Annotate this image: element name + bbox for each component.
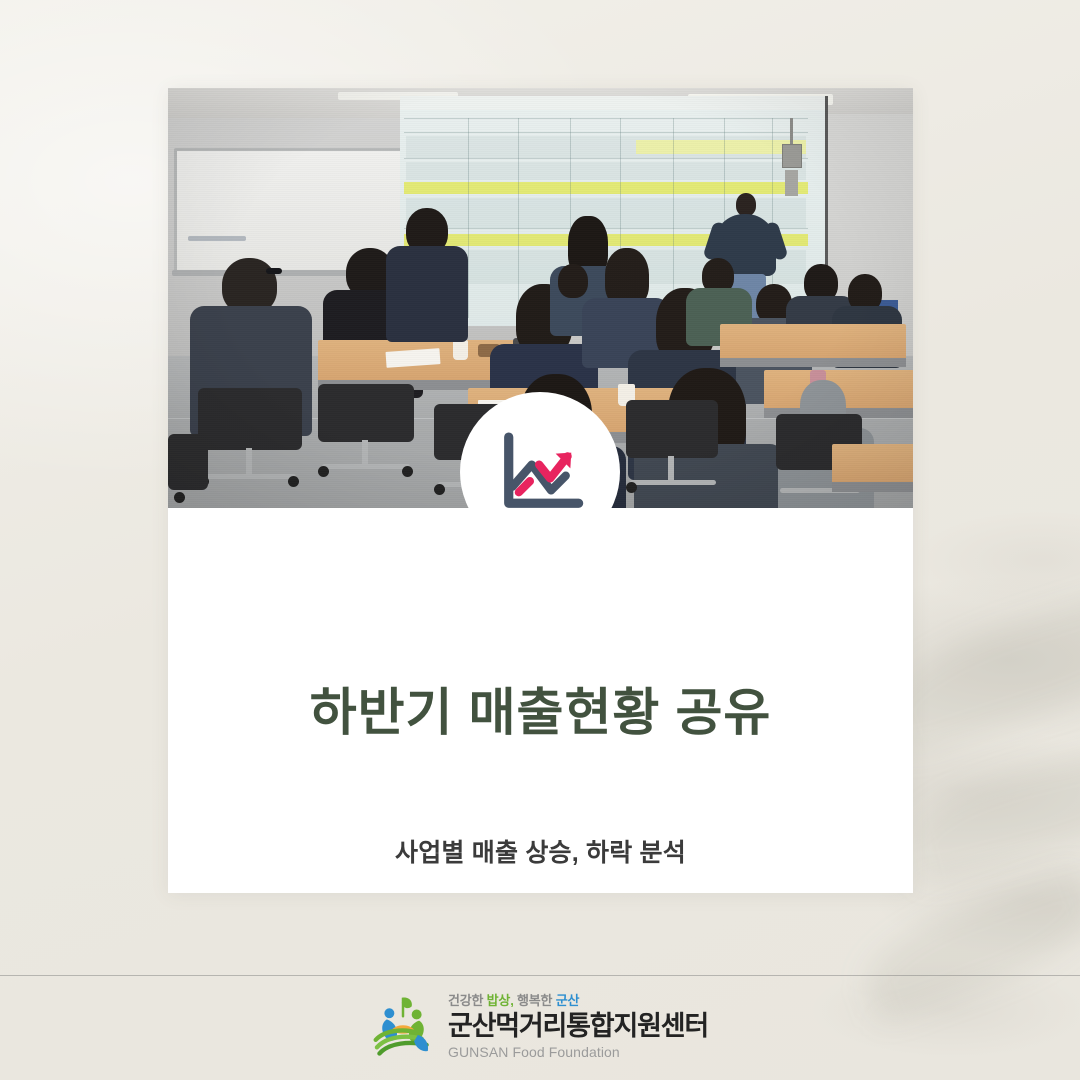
logo-tagline-part1: 건강한 (448, 993, 487, 1008)
page-title: 하반기 매출현황 공유 (168, 684, 913, 743)
text-area: 하반기 매출현황 공유 사업별 매출 상승, 하락 분석 (168, 508, 913, 893)
logo-organization-subname: GUNSAN Food Foundation (448, 1044, 708, 1060)
footer-divider (0, 975, 1080, 976)
content-card: 하반기 매출현황 공유 사업별 매출 상승, 하락 분석 (168, 88, 913, 893)
gunsan-food-foundation-logo-icon (372, 994, 434, 1056)
logo-organization-name: 군산먹거리통합지원센터 (448, 1011, 708, 1041)
background-leaf-shadow (899, 740, 1080, 885)
chart-trend-up-icon (494, 426, 586, 518)
logo-tagline-part2: 밥상, (487, 993, 514, 1008)
footer-logo: 건강한 밥상, 행복한 군산 군산먹거리통합지원센터 GUNSAN Food F… (0, 985, 1080, 1065)
logo-tagline: 건강한 밥상, 행복한 군산 (448, 990, 708, 1009)
logo-tagline-part3: 행복한 (514, 993, 556, 1008)
logo-text-block: 건강한 밥상, 행복한 군산 군산먹거리통합지원센터 GUNSAN Food F… (448, 990, 708, 1059)
logo-tagline-part4: 군산 (556, 993, 580, 1008)
page-subtitle: 사업별 매출 상승, 하락 분석 (168, 833, 913, 869)
chart-trend-up-badge (460, 392, 620, 552)
